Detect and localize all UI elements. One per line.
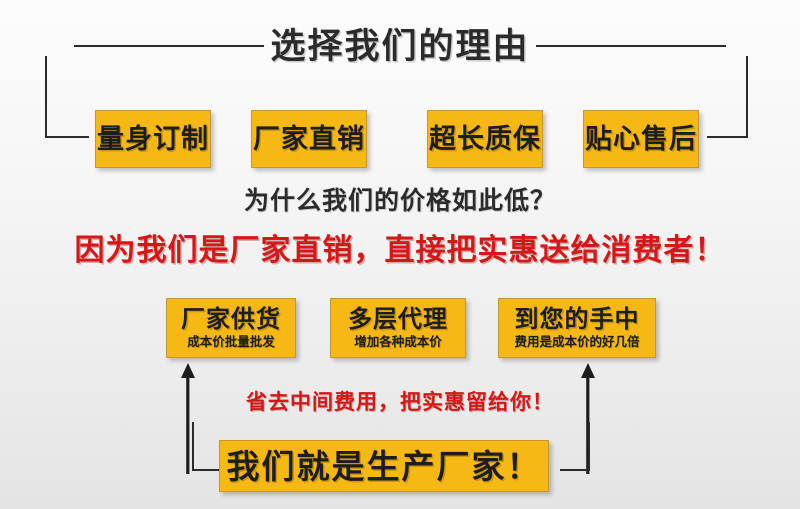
title-rule-right-icon [536,45,726,47]
chain-plate-title: 厂家供货 [181,308,281,332]
reason-plate-attentive-after-sales: 贴心售后 [583,110,699,168]
top-bracket-right-vertical-icon [746,56,748,137]
top-bracket-left-horizontal-icon [45,136,89,138]
bottom-banner-we-are-the-manufacturer: 我们就是生产厂家！ [219,440,549,492]
pitch-question: 为什么我们的价格如此低？ [0,189,800,214]
reason-label: 超长质保 [429,126,541,153]
page-title-row: 选择我们的理由 [0,22,800,70]
chain-plate-subtitle: 增加各种成本价 [354,336,442,349]
reason-label: 量身订制 [97,126,209,153]
title-rule-left-icon [74,45,264,47]
bottom-banner-label: 我们就是生产厂家！ [227,450,542,483]
up-arrow-left-icon [178,362,198,474]
promo-infographic: 选择我们的理由 量身订制 厂家直销 超长质保 贴心售后 为什么我们的价格如此低？… [0,0,800,509]
chain-plate-multi-layer-agency: 多层代理 增加各种成本价 [330,298,466,358]
top-bracket-right-horizontal-icon [707,136,748,138]
top-bracket-left-vertical-icon [45,56,47,137]
bottom-bracket-left-vertical-icon [192,422,194,471]
reason-plate-factory-direct-sales: 厂家直销 [251,110,367,168]
chain-plate-subtitle: 成本价批量批发 [187,336,275,349]
chain-plate-title: 到您的手中 [515,308,640,332]
chain-plate-title: 多层代理 [348,308,448,332]
chain-plate-subtitle: 费用是成本价的好几倍 [514,336,639,349]
reason-label: 贴心售后 [585,126,697,153]
reason-label: 厂家直销 [253,126,365,153]
reason-plate-extended-warranty: 超长质保 [427,110,543,168]
savings-note: 省去中间费用，把实惠留给你！ [0,392,800,413]
bottom-bracket-right-vertical-icon [588,422,590,471]
pitch-answer: 因为我们是厂家直销，直接把实惠送给消费者！ [0,236,800,266]
bottom-bracket-left-horizontal-icon [192,469,222,471]
chain-plate-into-your-hands: 到您的手中 费用是成本价的好几倍 [498,298,656,358]
reason-plate-custom-tailoring: 量身订制 [95,110,211,168]
chain-plate-factory-supply: 厂家供货 成本价批量批发 [166,298,296,358]
bottom-bracket-right-horizontal-icon [560,469,590,471]
page-title: 选择我们的理由 [264,29,535,64]
